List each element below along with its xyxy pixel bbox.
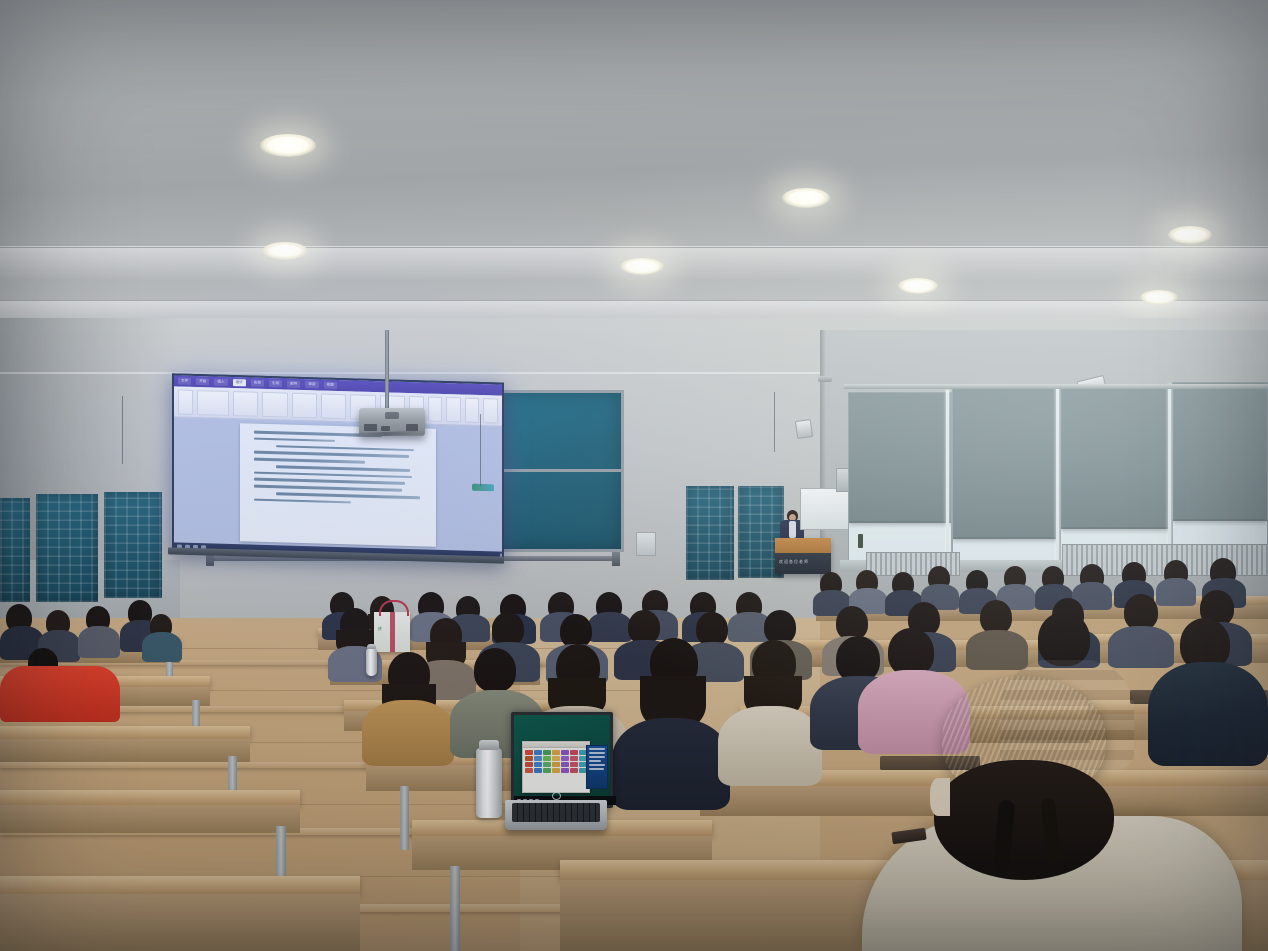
ceiling-soffit-line-2 <box>0 300 1268 301</box>
ceiling-fixture-right <box>818 376 832 382</box>
laptop-grid-icon-17[interactable] <box>552 762 560 767</box>
ribbon-style-1[interactable] <box>233 391 258 417</box>
tote-label: 庆 <box>378 626 382 632</box>
ribbon-style-3[interactable] <box>292 392 317 418</box>
laptop-grid-icon-26[interactable] <box>570 768 578 773</box>
document-canvas[interactable] <box>174 417 502 555</box>
laptop-grid-icon-4[interactable] <box>561 750 569 755</box>
window-unit-2 <box>952 388 1060 564</box>
window-blind-4[interactable] <box>1173 383 1267 521</box>
laptop-grid-icon-11[interactable] <box>561 756 569 761</box>
laptop-grid-icon-8[interactable] <box>534 756 542 761</box>
window-blind-3[interactable] <box>1061 385 1171 529</box>
laptop-brand-logo <box>552 792 561 800</box>
ribbon-tab-8[interactable]: 视图 <box>324 382 337 389</box>
ribbon-style-4[interactable] <box>321 393 346 419</box>
ceiling-downlight-4 <box>262 242 308 260</box>
desk-row-L5 <box>0 876 360 894</box>
projected-word-app: 文件 开始 插入 设计 布局 引用 邮件 审阅 视图 <box>174 375 502 560</box>
laptop-screen[interactable] <box>511 712 613 808</box>
foreground-collar <box>930 778 950 816</box>
ceiling-downlight-1 <box>260 134 316 157</box>
laptop-grid-icon-12[interactable] <box>570 756 578 761</box>
ribbon-fonts-button[interactable] <box>428 396 443 421</box>
ribbon-page-color-button[interactable] <box>465 397 480 422</box>
ribbon-watermark-button[interactable] <box>446 397 461 422</box>
doc-line-9 <box>254 485 402 492</box>
desk-front-L5 <box>0 894 360 951</box>
doc-line-2 <box>254 437 335 442</box>
laptop-grid-icon-16[interactable] <box>543 762 551 767</box>
laptop-grid-icon-21[interactable] <box>525 768 533 773</box>
laptop-side-panel[interactable] <box>586 745 608 789</box>
ribbon-style-2[interactable] <box>262 391 287 417</box>
wall-seam-1 <box>0 372 840 374</box>
open-laptop[interactable] <box>505 712 607 830</box>
hanging-cable-screen <box>480 414 481 486</box>
desk-row-L4 <box>0 790 300 805</box>
chalkboard-center-right <box>500 390 624 552</box>
desk-row-L3 <box>0 726 250 739</box>
ceiling-downlight-7 <box>1140 290 1178 305</box>
hanging-cable-center <box>774 392 775 452</box>
acoustic-panel-2 <box>104 492 162 598</box>
lectern-text: 欢迎各位老师 <box>779 559 809 565</box>
laptop-grid-icon-0[interactable] <box>525 750 533 755</box>
laptop-grid-icon-5[interactable] <box>570 750 578 755</box>
doc-line-7 <box>254 471 412 478</box>
desk-front-L4 <box>0 805 300 833</box>
laptop-grid-icon-1[interactable] <box>534 750 542 755</box>
projection-screen[interactable]: 文件 开始 插入 设计 布局 引用 邮件 审阅 视图 <box>172 373 504 562</box>
ceiling-downlight-3 <box>1168 226 1212 244</box>
whiteboard-small <box>800 488 850 530</box>
desk-leg-C5 <box>450 866 460 951</box>
laptop-app-window[interactable] <box>522 741 590 793</box>
ribbon-tab-7[interactable]: 审阅 <box>305 381 318 388</box>
laptop-grid-icon-7[interactable] <box>525 756 533 761</box>
doc-line-6 <box>276 465 410 471</box>
ribbon-gallery-theme-preview[interactable] <box>197 390 230 416</box>
projector-mount-pole <box>385 330 389 412</box>
window-unit-1 <box>848 392 952 564</box>
window-mullion-2 <box>1056 386 1059 566</box>
window-mullion-3 <box>1168 384 1171 566</box>
ribbon-tab-0[interactable]: 文件 <box>178 378 191 385</box>
laptop-grid-icon-2[interactable] <box>543 750 551 755</box>
ceiling-downlight-5 <box>620 258 664 275</box>
laptop-grid-icon-3[interactable] <box>552 750 560 755</box>
ribbon-tab-2[interactable]: 插入 <box>214 379 227 386</box>
window-unit-4 <box>1172 382 1268 564</box>
wall-speaker-left <box>795 419 813 439</box>
desk-front-L3 <box>0 739 250 762</box>
thermos-bottle-left <box>366 648 377 676</box>
desk-leg-C4 <box>400 786 409 850</box>
laptop-grid-icon-25[interactable] <box>561 768 569 773</box>
doc-line-11 <box>254 498 351 503</box>
laptop-icon-grid[interactable] <box>523 748 589 775</box>
laptop-grid-icon-19[interactable] <box>570 762 578 767</box>
document-page[interactable] <box>240 423 436 546</box>
laptop-grid-icon-9[interactable] <box>543 756 551 761</box>
ribbon-tab-3-active[interactable]: 设计 <box>233 379 246 386</box>
doc-line-4 <box>254 451 409 458</box>
ribbon-tab-6[interactable]: 邮件 <box>287 381 300 388</box>
window-head-rail <box>844 384 1268 389</box>
lectern-front-panel: 欢迎各位老师 <box>775 553 831 574</box>
ribbon-button-theme[interactable] <box>178 389 193 414</box>
laptop-grid-icon-24[interactable] <box>552 768 560 773</box>
gift-tote-bag: 庆 <box>374 612 410 652</box>
foreground-hair <box>934 760 1114 880</box>
hanging-cable-left <box>122 396 123 464</box>
laptop-grid-icon-23[interactable] <box>543 768 551 773</box>
laptop-grid-icon-15[interactable] <box>534 762 542 767</box>
laptop-keyboard[interactable] <box>512 803 600 822</box>
ribbon-page-borders-button[interactable] <box>483 398 498 423</box>
presenter-shirt <box>789 521 796 538</box>
ceiling-soffit-line-1 <box>0 247 1268 248</box>
ribbon-tab-1[interactable]: 开始 <box>196 378 209 385</box>
laptop-base <box>505 800 607 830</box>
doc-floating-toolbar[interactable] <box>472 484 494 492</box>
chalk-tray-bracket-right <box>612 552 620 566</box>
window-mullion-1 <box>946 390 949 566</box>
ceiling-downlight-2 <box>782 188 830 208</box>
acoustic-panel-5 <box>0 498 30 602</box>
window-blind-2[interactable] <box>953 389 1059 539</box>
doc-line-5 <box>254 458 365 464</box>
doc-line-10 <box>276 492 420 499</box>
laptop-grid-icon-10[interactable] <box>552 756 560 761</box>
tote-ribbon <box>390 612 395 652</box>
doc-line-8 <box>254 478 405 485</box>
ribbon-tab-5[interactable]: 引用 <box>269 380 282 387</box>
window-blind-1[interactable] <box>849 393 951 523</box>
sill-bottle <box>858 534 863 548</box>
acoustic-panel-3 <box>686 486 734 580</box>
window-unit-3 <box>1060 384 1172 564</box>
thermos-bottle-center <box>476 748 502 818</box>
acoustic-panel-1 <box>36 494 98 602</box>
ceiling-downlight-6 <box>898 278 938 294</box>
laptop-grid-icon-14[interactable] <box>525 762 533 767</box>
ribbon-tab-4[interactable]: 布局 <box>251 380 264 387</box>
doc-line-3 <box>276 445 414 451</box>
lecture-hall-photo: 文件 开始 插入 设计 布局 引用 邮件 审阅 视图 <box>0 0 1268 951</box>
laptop-grid-icon-22[interactable] <box>534 768 542 773</box>
wall-control-panel <box>636 532 656 556</box>
laptop-grid-icon-18[interactable] <box>561 762 569 767</box>
